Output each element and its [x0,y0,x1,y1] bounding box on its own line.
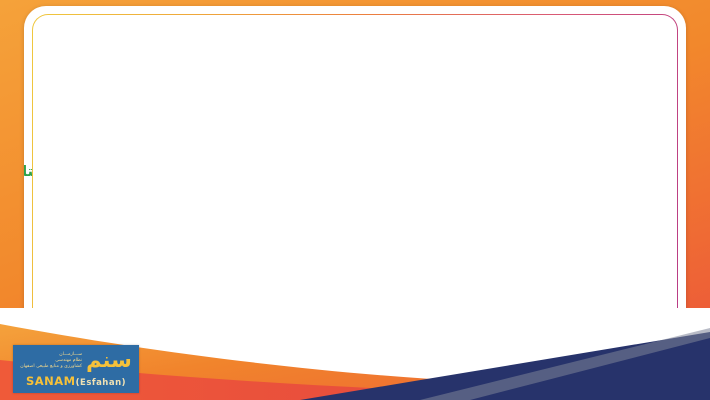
sanam-english-acronym: SANAM [26,374,76,388]
poster-title-line-1: برگزاری نوبت دوم مجمع عادی سالیانه [431,234,660,248]
poster-link-1: www.agri-esf.ir [494,294,521,298]
sanam-english-name: SANAM(Esfahan) [26,374,126,388]
collage-photo-5 [508,113,583,168]
collage-photo-8 [508,172,583,227]
poster-page: استان اصفهان برگزاری نوبت دوم مجمع عادی … [0,0,710,400]
collage-photo-6 [430,113,505,168]
headline-line-2: سازمان نظام مهندسی کشاورزی و منابع طبیعی… [73,161,393,184]
collage-photo-2 [508,55,583,110]
poster-link-1-label: www.agri-esf.ir [494,294,516,298]
sanam-subtitle-3: کشاورزی و منابع طبیعی اصفهان [20,364,82,369]
sanam-english-region: (Esfahan) [76,378,126,388]
poster-link-3-label: isna.nezam-agri [431,294,455,298]
sanam-persian-mark: سنم [86,350,132,371]
collage-photo-1 [586,55,661,110]
poster-title: برگزاری نوبت دوم مجمع عادی سالیانه سازما… [431,234,660,277]
poster-title-line-3: استان اصفهان در سال ۱۴۰۳ [431,263,660,277]
poster-link-2: nezamagri.esf [464,294,490,298]
organization-emblem: استان اصفهان [48,26,144,118]
white-content-card: استان اصفهان برگزاری نوبت دوم مجمع عادی … [24,6,686,358]
sanam-subtitle-lines: ســـازمـــان نظام مهندسی کشاورزی و منابع… [20,352,82,369]
photo-collage-grid [430,55,661,227]
poster-title-line-2: سازمان نظام مهندسی کشاورزی و منابع طبیعی [431,248,660,262]
poster-link-2-label: nezamagri.esf [464,294,485,298]
link-bullet-icon [517,294,520,297]
collage-photo-7 [586,172,661,227]
collage-photo-4 [586,113,661,168]
headline-line-3: در سال ۱۴۰۳ [73,194,393,218]
poster-inner: برگزاری نوبت دوم مجمع عادی سالیانه سازما… [423,48,668,308]
poster-footer: سازمان نظام مهندسی کشاورزی و منابع طبیعی… [431,294,660,298]
headline-line-1: برگزاری نوبت دوم مجمع عادی سالیانه [73,128,393,154]
link-bullet-icon [487,294,490,297]
emblem-caption: استان اصفهان [48,100,144,108]
poster-footer-text: سازمان نظام مهندسی کشاورزی و منابع طبیعی… [526,294,606,298]
poster-footer-links: www.agri-esf.ir nezamagri.esf isna.nezam… [431,294,521,298]
sanam-logo-badge[interactable]: سنم ســـازمـــان نظام مهندسی کشاورزی و م… [13,345,139,393]
collage-photo-3 [430,55,505,110]
sanam-subtitle-2: نظام مهندسی [20,358,82,363]
link-bullet-icon [457,294,460,297]
headline-block: برگزاری نوبت دوم مجمع عادی سالیانه سازما… [73,128,393,218]
event-poster[interactable]: برگزاری نوبت دوم مجمع عادی سالیانه سازما… [419,44,672,312]
poster-link-3: isna.nezam-agri [431,294,460,298]
sanam-subtitle-1: ســـازمـــان [20,352,82,357]
sanam-logo-top: سنم ســـازمـــان نظام مهندسی کشاورزی و م… [20,350,132,371]
collage-photo-9 [430,172,505,227]
